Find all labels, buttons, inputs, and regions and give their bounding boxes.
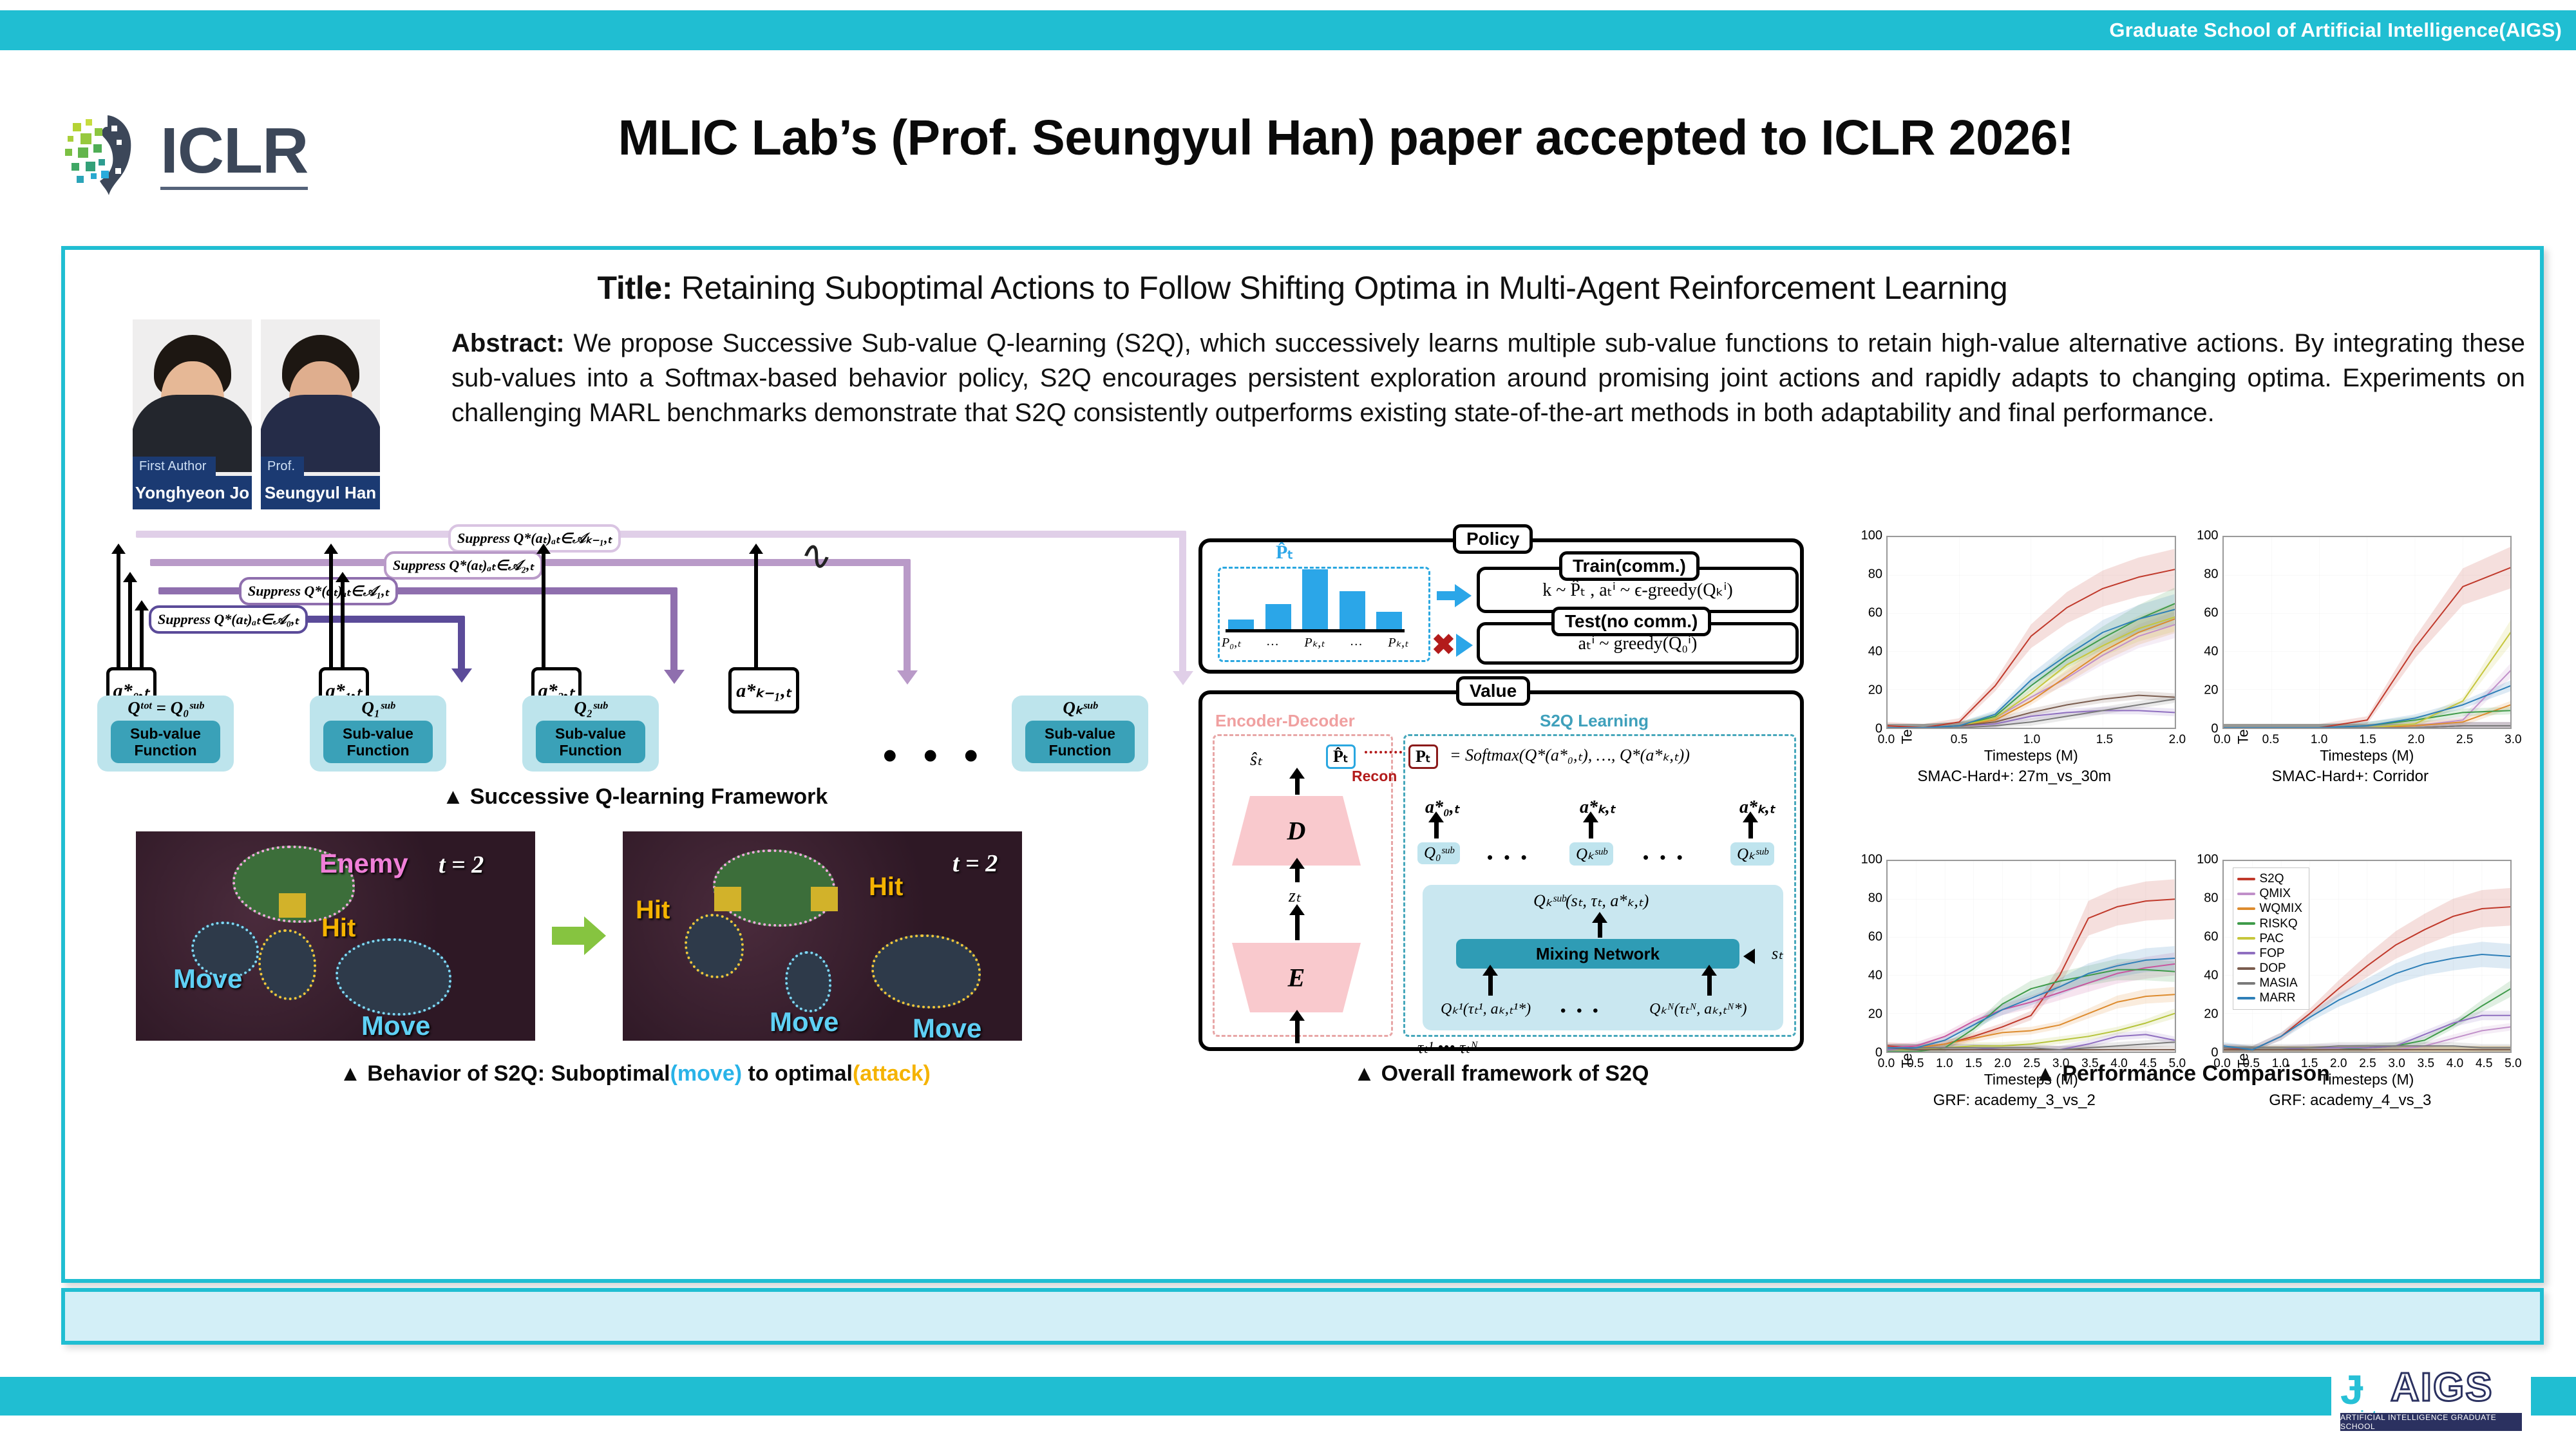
top-banner-text: Graduate School of Artificial Intelligen… [2109, 19, 2576, 42]
latent-label: zₜ [1289, 885, 1301, 907]
s2q-learning-label: S2Q Learning [1540, 711, 1649, 731]
subvalue-line2: Function [1048, 742, 1111, 759]
figure-performance-comparison: Test Win Rate (%) 020406080100 0.00.51.0… [1849, 527, 2515, 1235]
arrow-head-icon [664, 670, 685, 684]
top-banner: Graduate School of Artificial Intelligen… [0, 10, 2576, 50]
health-bar-icon [279, 893, 306, 918]
abstract-text-block: Abstract: We propose Successive Sub-valu… [451, 326, 2525, 430]
legend-item: S2Q [2237, 871, 2303, 886]
x-tick-label: 2.0 [2408, 733, 2425, 747]
page-title: MLIC Lab’s (Prof. Seungyul Han) paper ac… [0, 109, 2576, 167]
subvalue-columns: Qᵗᵒᵗ = Q₀ˢᵘᵇ Sub-value Function Q₁ˢᵘᵇ Su… [91, 696, 1179, 776]
ally-attacking-icon [258, 929, 316, 1000]
y-tick-label: 40 [2190, 645, 2219, 659]
bar-4 [1376, 612, 1402, 631]
y-tick-label: 60 [1854, 606, 1882, 621]
arrow-head-icon [451, 668, 472, 683]
q-label: Q₁ˢᵘᵇ [361, 698, 394, 718]
move-label: Move [770, 1007, 838, 1037]
up-arrow-icon [341, 581, 345, 668]
arrow-head-icon [1455, 584, 1472, 607]
subvalue-column-1: Q₁ˢᵘᵇ Sub-value Function [310, 696, 446, 772]
legend-item: QMIX [2237, 886, 2303, 901]
arrow-head-icon [897, 670, 918, 685]
up-arrow-icon [1434, 820, 1439, 838]
author-photo-first: First Author Yonghyeon Jo [133, 319, 252, 509]
subvalue-line2: Function [559, 742, 621, 759]
suppress-bar-3 [136, 531, 1182, 538]
legend-label: S2Q [2260, 871, 2284, 886]
agent-q-right: Qₖᴺ(τₜᴺ, aₖ,ₜᴺ*) [1649, 999, 1747, 1018]
legend-item: DOP [2237, 961, 2303, 976]
y-tick-label: 60 [2190, 930, 2219, 945]
suppress-bar-1 [158, 587, 674, 594]
timestep-label: t = 2 [952, 849, 998, 878]
softmax-equation: = Softmax(Q*(a*₀,ₜ), …, Q*(a*ₖ,ₜ)) [1450, 746, 1690, 765]
figure-overall-framework: Policy P̂ₜ P₀,ₜ … Pₖ,ₜ [1198, 527, 1817, 1235]
legend-label: MARR [2260, 990, 2296, 1005]
suppress-down-1 [670, 587, 677, 671]
mixing-network-block: Mixing Network [1456, 939, 1739, 969]
subvalue-column-0: Qᵗᵒᵗ = Q₀ˢᵘᵇ Sub-value Function [97, 696, 234, 772]
x-tick-label: 2.0 [2169, 733, 2186, 747]
up-arrow-icon [542, 553, 545, 668]
suppress-down-0 [458, 616, 465, 670]
suppress-label-1: Suppress Q*(aₜ)ₐₜ∈𝒜₁,ₜ [239, 577, 398, 605]
move-label: Move [913, 1013, 981, 1041]
decoder-block: D [1232, 796, 1361, 866]
abstract-label: Abstract: [451, 329, 565, 357]
recon-dotted-arrow [1365, 751, 1402, 753]
legend-item: FOP [2237, 946, 2303, 961]
y-tick-label: 60 [2190, 606, 2219, 621]
paper-title-label: Title: [598, 270, 673, 306]
up-arrow-icon [1598, 921, 1602, 938]
bar-tick-2: Pₖ,ₜ [1304, 634, 1325, 650]
hit-label: Hit [636, 896, 670, 925]
behavior-caption-attack: (attack) [853, 1061, 931, 1086]
chart-xlabel: Timesteps (M) [2222, 747, 2512, 764]
header: ICLR MLIC Lab’s (Prof. Seungyul Han) pap… [0, 90, 2576, 232]
chart-legend: S2QQMIXWQMIXRISKQPACFOPDOPMASIAMARR [2233, 867, 2310, 1010]
legend-item: PAC [2237, 931, 2303, 946]
up-arrow-icon [329, 553, 333, 668]
legend-item: WQMIX [2237, 901, 2303, 916]
subvalue-line2: Function [134, 742, 196, 759]
bar-tick-0: P₀,ₜ [1222, 634, 1241, 650]
encoder-block: E [1232, 943, 1361, 1012]
legend-swatch [2237, 937, 2255, 940]
subvalue-column-k: Qₖˢᵘᵇ Sub-value Function [1012, 696, 1148, 772]
up-arrow-icon [1589, 820, 1593, 838]
hit-label: Hit [869, 873, 903, 902]
author-name: Seungyul Han [261, 476, 380, 509]
unist-u-icon: Ɉ [2340, 1369, 2363, 1410]
bar-2 [1302, 569, 1328, 631]
x-tick-label: 0.0 [2213, 733, 2230, 747]
behavior-caption-move: (move) [670, 1061, 742, 1086]
q-label: Qₖˢᵘᵇ [1063, 698, 1097, 718]
up-arrow-icon [1295, 1019, 1300, 1043]
up-arrow-icon [754, 553, 758, 668]
trajectory-row: τₜ¹ ••• τₜᴺ [1417, 1038, 1478, 1057]
enemy-label: Enemy [319, 848, 408, 879]
break-squiggle-icon: ∿ [796, 531, 837, 582]
q-chip-k: Qₖˢᵘᵇ [1569, 842, 1613, 866]
encoder-letter: E [1232, 963, 1361, 993]
behavior-caption-pre: ▲ Behavior of S2Q: Suboptimal [339, 1061, 670, 1086]
legend-label: DOP [2260, 961, 2286, 976]
subvalue-box: Sub-value Function [536, 721, 645, 763]
behavior-caption: ▲ Behavior of S2Q: Suboptimal(move) to o… [91, 1061, 1179, 1086]
arrow-head-icon [1173, 671, 1193, 685]
y-tick-label: 40 [2190, 969, 2219, 983]
legend-label: RISKQ [2260, 916, 2298, 931]
q-label: Q₂ˢᵘᵇ [574, 698, 607, 718]
q-label: Qᵗᵒᵗ = Q₀ˢᵘᵇ [128, 698, 204, 718]
legend-label: FOP [2260, 946, 2285, 961]
legend-item: MARR [2237, 990, 2303, 1005]
figure-successive-framework: Suppress Q*(aₜ)ₐₜ∈𝒜ₖ₋₁,ₜ Suppress Q*(aₜ)… [91, 527, 1179, 1235]
poster-card: Title: Retaining Suboptimal Actions to F… [61, 246, 2544, 1283]
ally-attacking-icon [871, 934, 981, 1009]
up-arrow-icon [1707, 974, 1712, 996]
figure3-caption: ▲ Performance Comparison [1849, 1061, 2515, 1086]
bar-tick-3: … [1350, 634, 1362, 650]
legend-swatch [2237, 907, 2255, 910]
y-tick-label: 80 [1854, 567, 1882, 582]
x-tick-label: 0.5 [1951, 733, 1967, 747]
phat-bar-chart: P₀,ₜ … Pₖ,ₜ … Pₖ,ₜ [1222, 559, 1408, 650]
chart-grf-3vs2: Test Win Rate (%) 020406080100 0.00.51.0… [1849, 851, 2180, 1171]
legend-swatch [2237, 952, 2255, 954]
legend-swatch [2237, 893, 2255, 895]
legend-label: QMIX [2260, 886, 2291, 901]
x-tick-label: 1.0 [2023, 733, 2040, 747]
hit-label: Hit [321, 914, 355, 943]
plot-area: S2QQMIXWQMIXRISKQPACFOPDOPMASIAMARR [2222, 860, 2512, 1053]
unist-aigs-logo: Ɉ AIGS unist ARTIFICIAL INTELLIGENCE GRA… [2331, 1358, 2531, 1435]
move-label: Move [173, 963, 242, 994]
timestep-label: t = 2 [439, 851, 484, 879]
aigs-subtitle: ARTIFICIAL INTELLIGENCE GRADUATE SCHOOL [2340, 1413, 2522, 1431]
chart-smac-corridor: Test Win Rate (%) 020406080100 0.00.51.0… [2185, 527, 2516, 847]
footer-bar [0, 1377, 2576, 1416]
up-arrow-icon [1295, 777, 1300, 795]
author-role: First Author [133, 457, 216, 476]
y-tick-label: 80 [2190, 567, 2219, 582]
paper-title-text: Retaining Suboptimal Actions to Follow S… [672, 270, 2007, 306]
train-tag: Train(comm.) [1559, 551, 1700, 581]
up-arrow-icon [1488, 974, 1493, 996]
chart-title: SMAC-Hard+: 27m_vs_30m [1849, 768, 2180, 786]
subvalue-column-2: Q₂ˢᵘᵇ Sub-value Function [522, 696, 659, 772]
ellipsis-dots: • • • [1560, 1002, 1602, 1020]
legend-item: RISKQ [2237, 916, 2303, 931]
legend-swatch [2237, 997, 2255, 999]
x-tick-label: 3.0 [2505, 733, 2521, 747]
up-arrow-icon [1748, 820, 1753, 838]
bar-1 [1265, 604, 1291, 631]
y-tick-label: 40 [1854, 645, 1882, 659]
qsub-equation: Qₖˢᵘᵇ(sₜ, τₜ, a*ₖ,ₜ) [1533, 891, 1649, 911]
figure2-caption: ▲ Overall framework of S2Q [1198, 1061, 1804, 1086]
legend-swatch [2237, 967, 2255, 970]
plot-area [1886, 860, 2176, 1053]
behavior-shot-left: Enemy t = 2 Hit Move Move [136, 831, 535, 1041]
q-chip-0: Q₀ˢᵘᵇ [1417, 842, 1460, 864]
figure1-caption: ▲ Successive Q-learning Framework [91, 784, 1179, 810]
chart-title: GRF: academy_3_vs_2 [1849, 1092, 2180, 1110]
bar-tick-4: Pₖ,ₜ [1388, 634, 1408, 650]
aigs-wordmark: AIGS [2391, 1368, 2494, 1408]
x-tick-label: 1.0 [2311, 733, 2327, 747]
legend-swatch [2237, 922, 2255, 925]
arrow-head-icon [1743, 949, 1755, 964]
encoder-decoder-label: Encoder-Decoder [1215, 711, 1355, 731]
up-arrow-icon [1295, 913, 1300, 940]
y-tick-label: 80 [1854, 891, 1882, 906]
chart-xlabel: Timesteps (M) [1886, 747, 2176, 764]
decoder-letter: D [1232, 816, 1361, 846]
legend-swatch [2237, 878, 2255, 880]
chart-grf-4vs3: Test Win Rate (%) S2QQMIXWQMIXRISKQPACFO… [2185, 851, 2516, 1171]
abstract-row: First Author Yonghyeon Jo Prof. Seungyul… [65, 319, 2540, 519]
legend-swatch [2237, 982, 2255, 985]
plot-area [1886, 536, 2176, 729]
author-list: First Author Yonghyeon Jo Prof. Seungyul… [133, 319, 380, 509]
y-tick-label: 100 [1854, 529, 1882, 544]
chart-title: SMAC-Hard+: Corridor [2185, 768, 2516, 786]
legend-label: WQMIX [2260, 901, 2303, 916]
flow-arrow-train [1437, 591, 1456, 600]
behavior-shot-right: Hit Hit t = 2 Move Move [623, 831, 1022, 1041]
x-tick-label: 0.5 [2262, 733, 2279, 747]
x-tick-label: 0.0 [1878, 733, 1895, 747]
ellipsis-dots: • • • [1643, 848, 1686, 867]
transition-arrow-icon [552, 916, 606, 955]
ellipsis-dots: • • • [1487, 848, 1530, 867]
agent-q-left: Qₖ¹(τₜ¹, aₖ,ₜ¹*) [1441, 999, 1531, 1018]
subvalue-box: Sub-value Function [111, 721, 220, 763]
test-tag: Test(no comm.) [1551, 607, 1711, 636]
figures-row: Suppress Q*(aₜ)ₐₜ∈𝒜ₖ₋₁,ₜ Suppress Q*(aₜ)… [65, 527, 2540, 1242]
bar-3 [1340, 591, 1365, 631]
y-tick-label: 60 [1854, 930, 1882, 945]
x-tick-label: 2.5 [2456, 733, 2473, 747]
bar-xticks: P₀,ₜ … Pₖ,ₜ … Pₖ,ₜ [1222, 634, 1408, 650]
bar-tick-1: … [1267, 634, 1278, 650]
chart-smac-27m: Test Win Rate (%) 020406080100 0.00.51.0… [1849, 527, 2180, 847]
suppress-label-2: Suppress Q*(aₜ)ₐₜ∈𝒜₂,ₜ [384, 551, 543, 580]
ally-attacking-icon [685, 914, 744, 978]
reconstructed-state: ŝₜ [1250, 748, 1262, 770]
subvalue-box: Sub-value Function [323, 721, 433, 763]
state-input-label: sₜ [1772, 944, 1783, 963]
y-tick-label: 20 [2190, 683, 2219, 698]
policy-tag: Policy [1453, 524, 1533, 554]
up-arrow-icon [1295, 867, 1300, 882]
no-comm-cross-icon: ✖ [1432, 629, 1455, 661]
q-chip-K: Qₖˢᵘᵇ [1730, 842, 1774, 866]
y-tick-label: 100 [2190, 853, 2219, 867]
up-arrow-icon [140, 609, 144, 668]
y-tick-label: 20 [1854, 1007, 1882, 1022]
x-tick-label: 1.5 [2359, 733, 2376, 747]
subvalue-line1: Sub-value [343, 725, 413, 742]
poster-page: Graduate School of Artificial Intelligen… [0, 0, 2576, 1449]
paper-title: Title: Retaining Suboptimal Actions to F… [65, 269, 2540, 307]
health-bar-icon [811, 887, 838, 911]
author-photo-prof: Prof. Seungyul Han [261, 319, 380, 509]
x-tick-label: 1.5 [2096, 733, 2113, 747]
legend-label: MASIA [2260, 976, 2298, 990]
author-name: Yonghyeon Jo [133, 476, 252, 509]
bar-series [1228, 567, 1402, 631]
suppress-down-2 [904, 559, 911, 672]
bar-axis [1226, 629, 1405, 632]
bottom-strip [61, 1288, 2544, 1345]
suppress-label-3: Suppress Q*(aₜ)ₐₜ∈𝒜ₖ₋₁,ₜ [448, 524, 621, 553]
y-tick-label: 80 [2190, 891, 2219, 906]
p-chip: Pₜ [1408, 744, 1438, 769]
plot-area [2222, 536, 2512, 729]
y-tick-label: 100 [2190, 529, 2219, 544]
recon-label: Recon [1352, 768, 1397, 785]
ally-unit-icon [785, 951, 831, 1012]
y-tick-label: 20 [1854, 683, 1882, 698]
y-tick-label: 20 [2190, 1007, 2219, 1022]
suppress-down-3 [1179, 531, 1186, 672]
subvalue-line2: Function [346, 742, 409, 759]
legend-label: PAC [2260, 931, 2284, 946]
suppress-label-0: Suppress Q*(aₜ)ₐₜ∈𝒜₀,ₜ [149, 605, 308, 634]
subvalue-line1: Sub-value [130, 725, 201, 742]
author-role: Prof. [261, 457, 304, 476]
ellipsis-dots: • • • [883, 733, 986, 779]
y-tick-label: 100 [1854, 853, 1882, 867]
subvalue-line1: Sub-value [1045, 725, 1115, 742]
behavior-screenshots: Enemy t = 2 Hit Move Move Hit [136, 829, 1141, 1042]
chart-title: GRF: academy_4_vs_3 [2185, 1092, 2516, 1110]
legend-item: MASIA [2237, 976, 2303, 990]
up-arrow-icon [128, 581, 132, 668]
behavior-caption-mid: to optimal [742, 1061, 853, 1086]
up-arrow-icon [117, 553, 120, 668]
value-tag: Value [1456, 676, 1530, 706]
health-bar-icon [714, 887, 741, 911]
subvalue-line1: Sub-value [555, 725, 626, 742]
abstract-body: We propose Successive Sub-value Q-learni… [451, 329, 2525, 427]
subvalue-box: Sub-value Function [1025, 721, 1135, 763]
move-label: Move [361, 1010, 430, 1041]
ally-group-icon [336, 938, 451, 1016]
y-tick-label: 40 [1854, 969, 1882, 983]
arrow-head-icon [1456, 634, 1473, 657]
phat-chip: P̂ₜ [1326, 744, 1356, 769]
